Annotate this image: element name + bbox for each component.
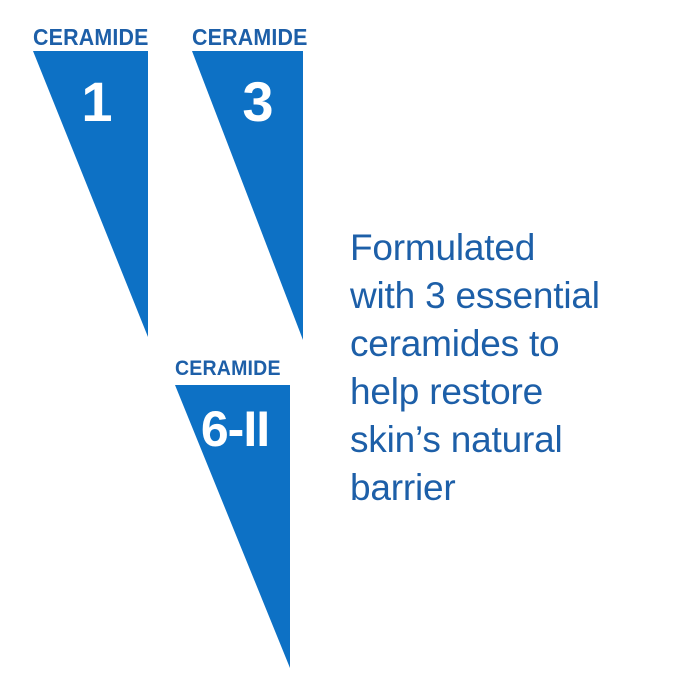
copy-line: skin’s natural <box>350 416 650 464</box>
marketing-copy-block: Formulated with 3 essential ceramides to… <box>350 224 650 512</box>
ceramide-numeral-3: 6-II <box>201 404 269 454</box>
copy-line: help restore <box>350 368 650 416</box>
copy-line: ceramides to <box>350 320 650 368</box>
ceramide-label-1: CERAMIDE <box>33 26 149 49</box>
ceramide-label-2: CERAMIDE <box>192 26 308 49</box>
copy-line: barrier <box>350 464 650 512</box>
infographic-canvas: CERAMIDE 1 CERAMIDE 3 CERAMIDE 6-II Form… <box>0 0 679 679</box>
copy-line: with 3 essential <box>350 272 650 320</box>
ceramide-numeral-1: 1 <box>81 74 112 130</box>
ceramide-label-3: CERAMIDE <box>175 358 281 379</box>
copy-line: Formulated <box>350 224 650 272</box>
ceramide-numeral-2: 3 <box>242 74 273 130</box>
